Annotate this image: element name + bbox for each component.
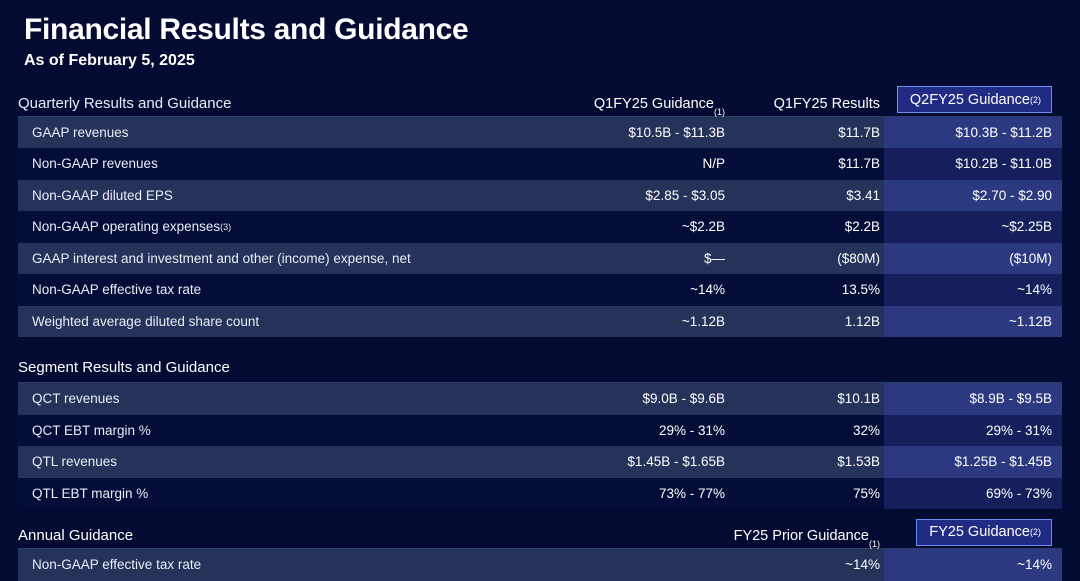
page-title: Financial Results and Guidance [18,0,1062,47]
cell-q2-guidance: $10.3B - $11.2B [884,117,1062,149]
col-header-fy25-guidance: FY25 Guidance(2) [884,517,1062,548]
cell-q1-guidance: $9.0B - $9.6B [540,383,725,415]
row-label: GAAP revenues [18,117,540,149]
annual-column-header: Annual Guidance FY25 Prior Guidance(1) F… [18,517,1062,549]
col-header-q1-results: Q1FY25 Results [725,85,884,116]
section-spacer [18,337,1062,353]
col-header-q2-guidance: Q2FY25 Guidance(2) [884,85,1062,116]
col-header-fy25-guidance-text: FY25 Guidance [929,524,1030,540]
row-label: QTL EBT margin % [18,478,540,510]
cell-fy25-prior: ~14% [725,549,884,581]
col-header-q2-guidance-box: Q2FY25 Guidance(2) [897,86,1052,113]
row-label: Non-GAAP diluted EPS [18,180,540,212]
cell-q2-guidance: ($10M) [884,243,1062,275]
table-row: Weighted average diluted share count~1.1… [18,306,1062,338]
quarterly-section-label: Quarterly Results and Guidance [18,85,540,116]
cell-q1-results: $10.1B [725,383,884,415]
cell-q2-guidance: $2.70 - $2.90 [884,180,1062,212]
table-row: GAAP revenues$10.5B - $11.3B$11.7B$10.3B… [18,117,1062,149]
row-label: QCT EBT margin % [18,415,540,447]
cell-spacer-a [540,549,725,581]
segment-section-label: Segment Results and Guidance [18,353,540,382]
table-row: Non-GAAP effective tax rate~14%~14% [18,549,1062,581]
annual-rows: Non-GAAP effective tax rate~14%~14% [18,549,1062,581]
row-label: Non-GAAP revenues [18,148,540,180]
cell-q2-guidance: $8.9B - $9.5B [884,383,1062,415]
table-row: Non-GAAP diluted EPS$2.85 - $3.05$3.41$2… [18,180,1062,212]
row-label: Weighted average diluted share count [18,306,540,338]
col-header-fy25-prior-text: FY25 Prior Guidance [734,528,869,544]
table-row: QTL EBT margin %73% - 77%75%69% - 73% [18,478,1062,510]
cell-q1-results: 75% [725,478,884,510]
cell-q1-guidance: ~$2.2B [540,211,725,243]
table-row: QTL revenues$1.45B - $1.65B$1.53B$1.25B … [18,446,1062,478]
quarterly-column-header: Quarterly Results and Guidance Q1FY25 Gu… [18,85,1062,117]
cell-q1-guidance: $2.85 - $3.05 [540,180,725,212]
col-header-fy25-prior: FY25 Prior Guidance(1) [18,517,884,548]
cell-q1-results: 13.5% [725,274,884,306]
cell-q2-guidance: 29% - 31% [884,415,1062,447]
cell-q1-results: 1.12B [725,306,884,338]
segment-rows: QCT revenues$9.0B - $9.6B$10.1B$8.9B - $… [18,383,1062,509]
cell-q1-results: $11.7B [725,117,884,149]
cell-q2-guidance: $1.25B - $1.45B [884,446,1062,478]
cell-q1-results: $2.2B [725,211,884,243]
cell-q2-guidance: ~14% [884,274,1062,306]
cell-q1-results: 32% [725,415,884,447]
cell-q1-guidance: 29% - 31% [540,415,725,447]
col-header-q2-guidance-text: Q2FY25 Guidance [910,92,1030,108]
cell-q1-results: ($80M) [725,243,884,275]
table-row: Non-GAAP operating expenses(3)~$2.2B$2.2… [18,211,1062,243]
cell-q2-guidance: ~$2.25B [884,211,1062,243]
financial-table: Quarterly Results and Guidance Q1FY25 Gu… [18,85,1062,581]
cell-q1-results: $11.7B [725,148,884,180]
cell-q1-guidance: ~1.12B [540,306,725,338]
row-label: QTL revenues [18,446,540,478]
slide-root: Financial Results and Guidance As of Feb… [0,0,1080,580]
cell-q1-guidance: 73% - 77% [540,478,725,510]
col-header-fy25-guidance-box: FY25 Guidance(2) [916,519,1052,546]
col-header-q1-guidance: Q1FY25 Guidance(1) [540,85,725,116]
cell-q1-guidance: N/P [540,148,725,180]
table-row: QCT revenues$9.0B - $9.6B$10.1B$8.9B - $… [18,383,1062,415]
row-label: Non-GAAP effective tax rate [18,274,540,306]
quarterly-rows: GAAP revenues$10.5B - $11.3B$11.7B$10.3B… [18,117,1062,338]
cell-q1-guidance: ~14% [540,274,725,306]
table-row: GAAP interest and investment and other (… [18,243,1062,275]
row-label: GAAP interest and investment and other (… [18,243,540,275]
row-label: Non-GAAP effective tax rate [18,549,540,581]
cell-q2-guidance: ~1.12B [884,306,1062,338]
table-row: Non-GAAP effective tax rate~14%13.5%~14% [18,274,1062,306]
row-label: Non-GAAP operating expenses(3) [18,211,540,243]
segment-section-header: Segment Results and Guidance [18,353,1062,383]
cell-q1-results: $3.41 [725,180,884,212]
cell-q1-guidance: $1.45B - $1.65B [540,446,725,478]
cell-q2-guidance: 69% - 73% [884,478,1062,510]
cell-q1-guidance: $— [540,243,725,275]
cell-q1-results: $1.53B [725,446,884,478]
row-label: QCT revenues [18,383,540,415]
cell-q1-guidance: $10.5B - $11.3B [540,117,725,149]
annual-spacer [18,509,1062,517]
table-row: Non-GAAP revenuesN/P$11.7B$10.2B - $11.0… [18,148,1062,180]
annual-section-label: Annual Guidance [18,527,133,544]
col-header-q1-guidance-text: Q1FY25 Guidance [594,96,714,112]
page-subtitle: As of February 5, 2025 [18,47,1062,70]
cell-fy25-guidance: ~14% [884,549,1062,581]
table-row: QCT EBT margin %29% - 31%32%29% - 31% [18,415,1062,447]
cell-q2-guidance: $10.2B - $11.0B [884,148,1062,180]
